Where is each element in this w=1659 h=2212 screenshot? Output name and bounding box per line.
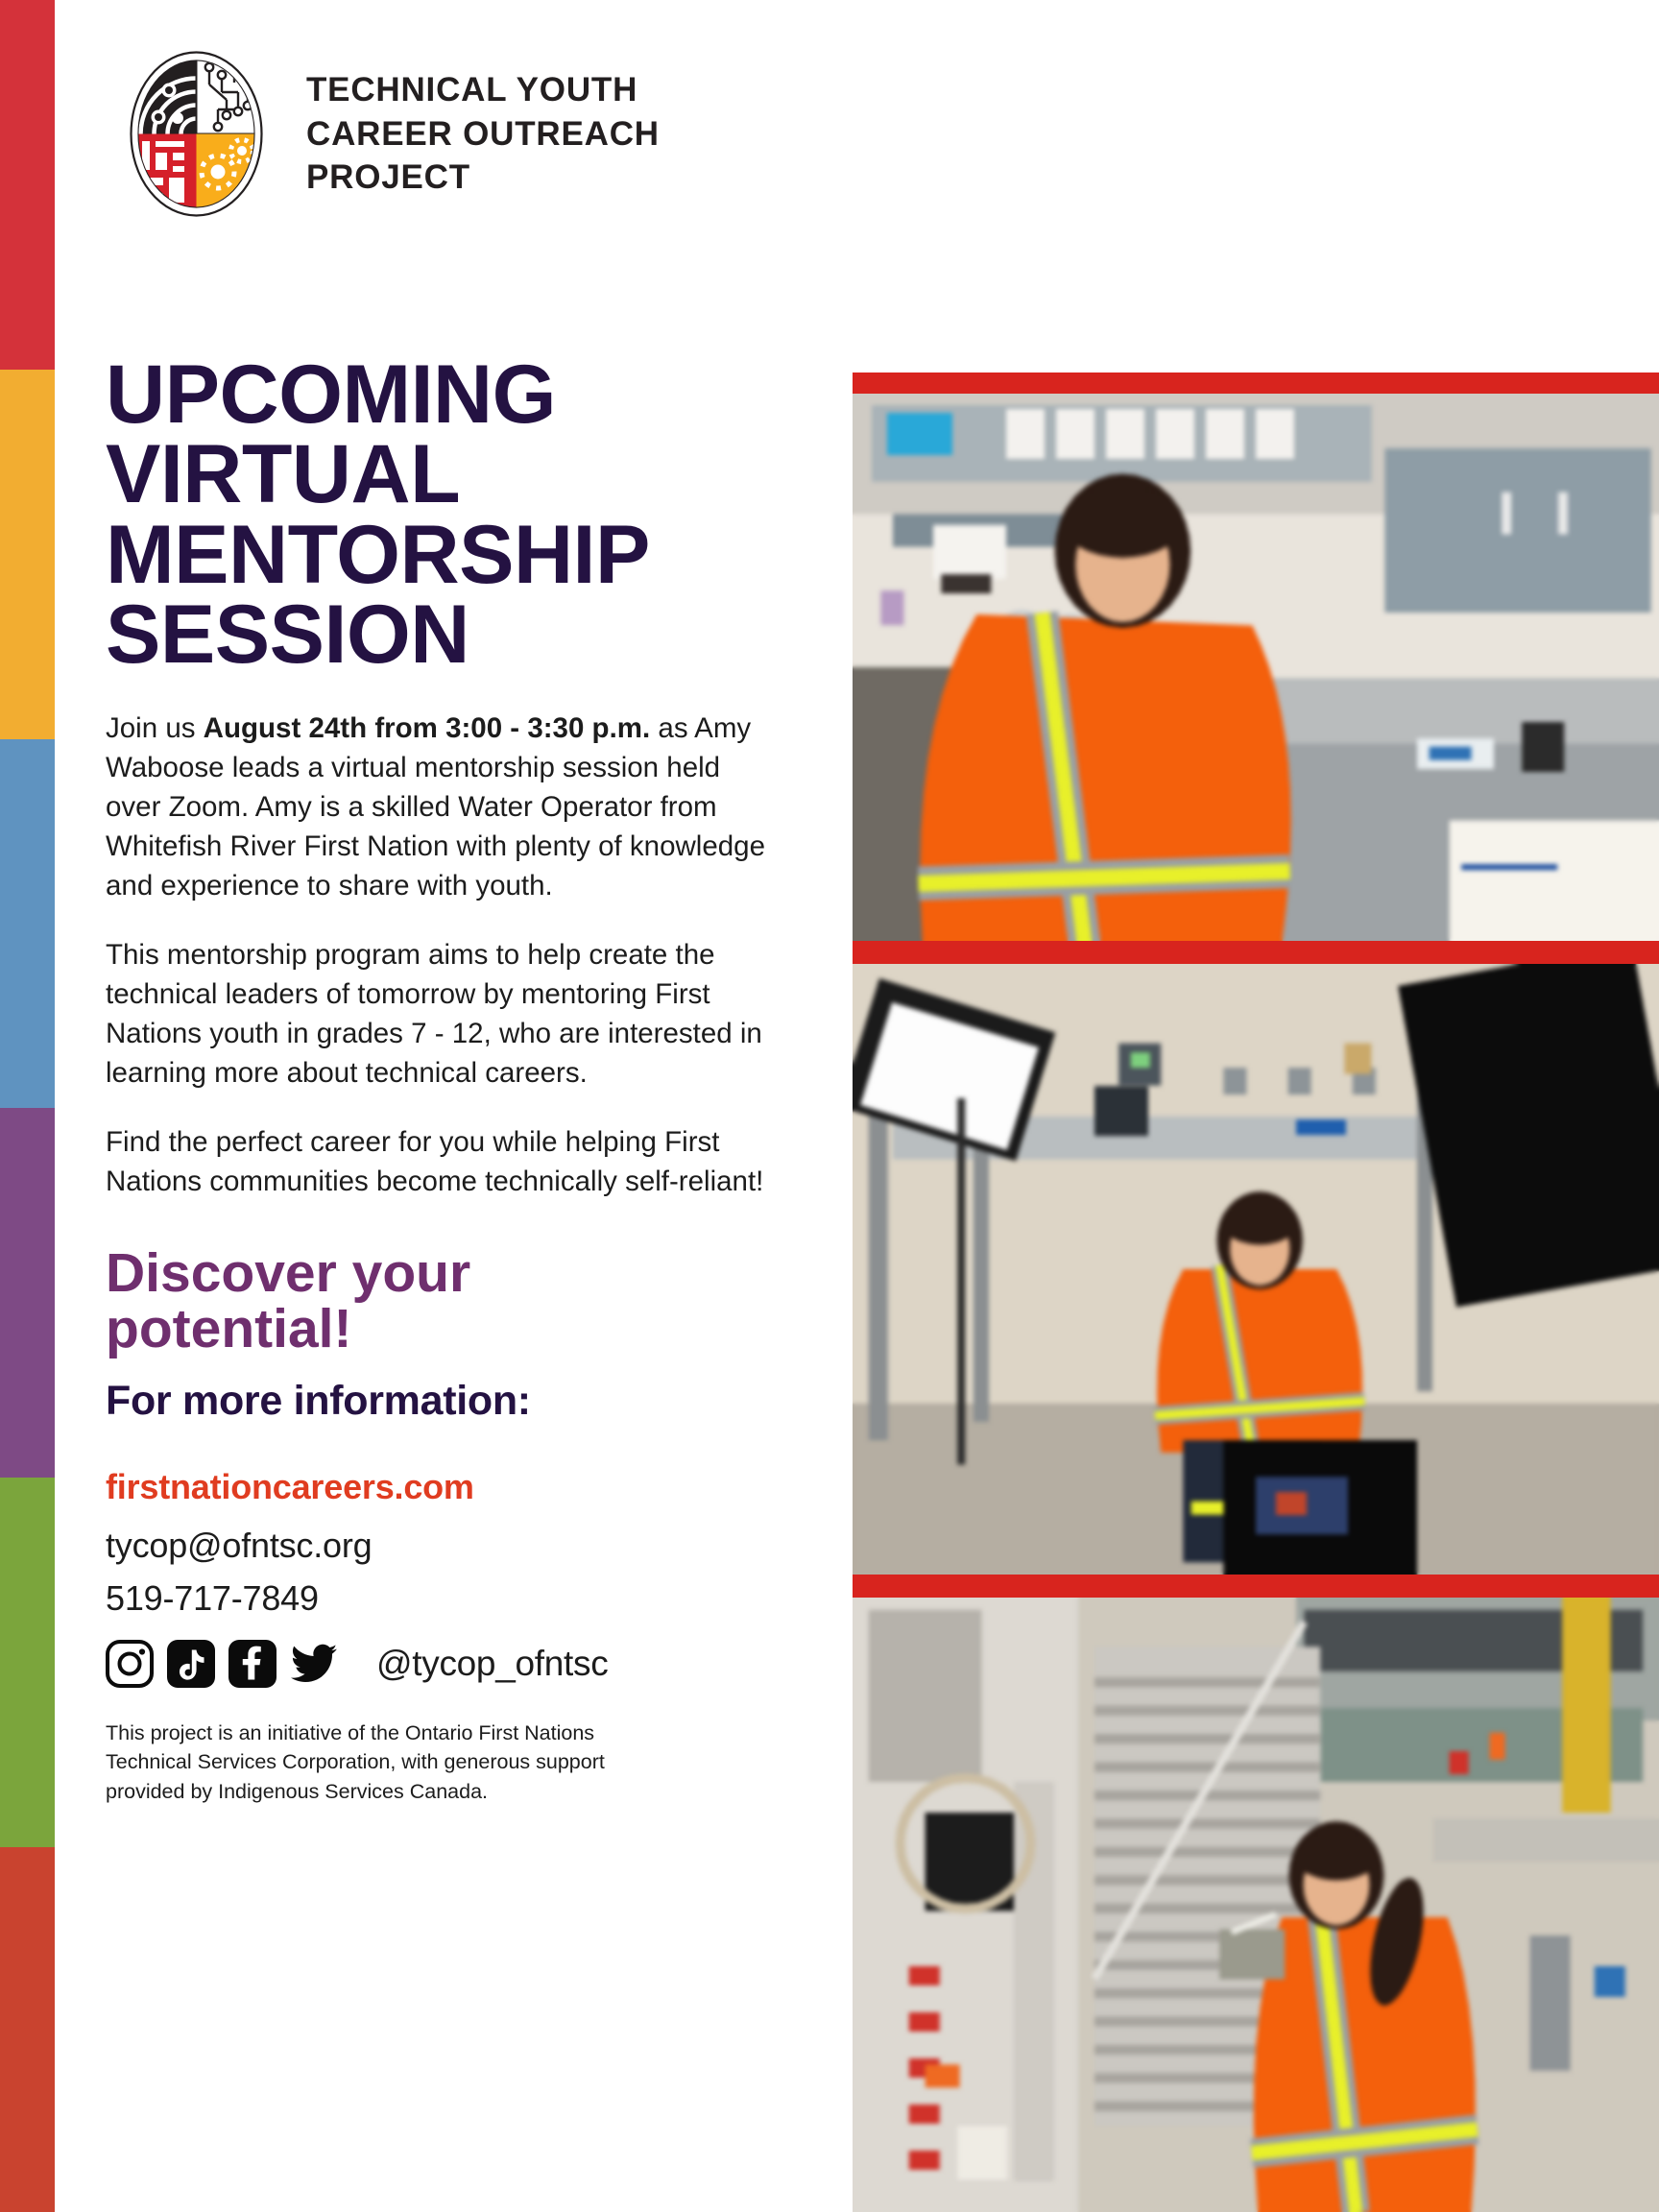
- strip-segment-red-orange: [0, 1847, 55, 2212]
- page-title: UPCOMING VIRTUAL MENTORSHIP SESSION: [106, 355, 778, 676]
- strip-segment-red: [0, 0, 55, 370]
- brand-color-strip: [0, 0, 55, 2212]
- contact-block: firstnationcareers.com tycop@ofntsc.org …: [106, 1467, 778, 1688]
- body-paragraph-1: Join us August 24th from 3:00 - 3:30 p.m…: [106, 709, 778, 905]
- photo-column: [853, 373, 1659, 2212]
- body-paragraph-3: Find the perfect career for you while he…: [106, 1122, 778, 1201]
- strip-segment-green: [0, 1478, 55, 1847]
- photo-water-operator-at-lab-desk: [853, 394, 1659, 941]
- twitter-icon[interactable]: [290, 1640, 338, 1688]
- logo-title: TECHNICAL YOUTH CAREER OUTREACH PROJECT: [306, 68, 660, 200]
- instagram-icon[interactable]: [106, 1640, 154, 1688]
- email-address[interactable]: tycop@ofntsc.org: [106, 1526, 778, 1566]
- tiktok-icon[interactable]: [167, 1640, 215, 1688]
- photo-separator-2: [853, 1575, 1659, 1598]
- footnote-text: This project is an initiative of the Ont…: [106, 1719, 720, 1807]
- body-paragraph-2: This mentorship program aims to help cre…: [106, 935, 778, 1093]
- logo-block: TECHNICAL YOUTH CAREER OUTREACH PROJECT: [127, 50, 660, 218]
- strip-segment-yellow: [0, 370, 55, 739]
- strip-segment-blue: [0, 739, 55, 1109]
- facebook-icon[interactable]: [228, 1640, 276, 1688]
- photo-separator-1: [853, 941, 1659, 964]
- left-content-column: UPCOMING VIRTUAL MENTORSHIP SESSION Join…: [106, 355, 778, 1806]
- photo-operator-taking-readings: [853, 1598, 1659, 2212]
- website-link[interactable]: firstnationcareers.com: [106, 1467, 778, 1507]
- strip-segment-purple: [0, 1108, 55, 1478]
- tagline: Discover your potential!: [106, 1245, 778, 1357]
- more-information-heading: For more information:: [106, 1378, 778, 1425]
- photo-separator-top: [853, 373, 1659, 394]
- social-links-row: @tycop_ofntsc: [106, 1640, 778, 1688]
- tycop-medallion-logo: [127, 50, 266, 218]
- photo-filming-mentorship-interview: [853, 964, 1659, 1575]
- phone-number[interactable]: 519-717-7849: [106, 1578, 778, 1619]
- social-handle: @tycop_ofntsc: [376, 1644, 608, 1684]
